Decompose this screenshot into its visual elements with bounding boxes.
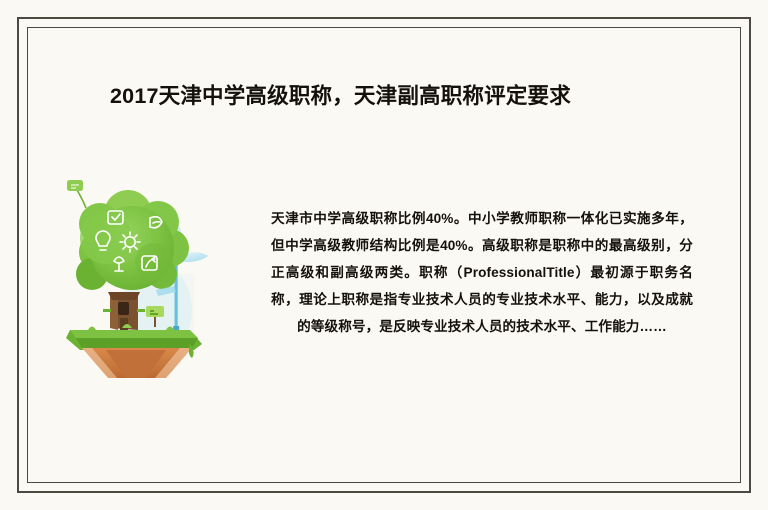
eco-tree-island-illustration	[62, 178, 242, 378]
article-card: 2017天津中学高级职称，天津副高职称评定要求	[0, 0, 768, 510]
tree-canopy	[67, 180, 189, 290]
floating-island	[66, 324, 202, 378]
page-title: 2017天津中学高级职称，天津副高职称评定要求	[110, 82, 571, 110]
article-body: 天津市中学高级职称比例40%。中小学教师职称一体化已实施多年，但中学高级教师结构…	[271, 205, 693, 340]
